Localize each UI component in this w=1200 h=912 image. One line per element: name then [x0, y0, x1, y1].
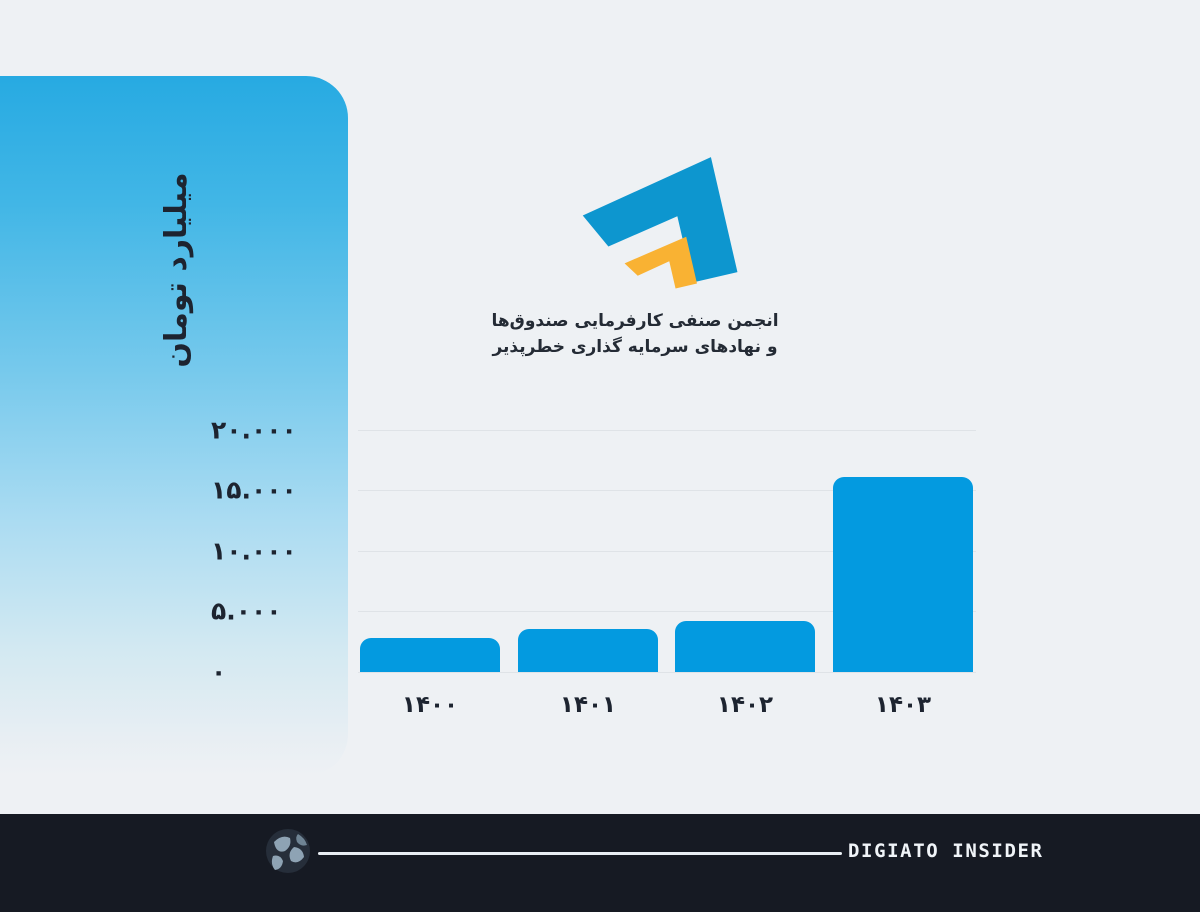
chart-canvas: میلیارد تومان انجمن صنفی کارفرمایی صندوق…	[0, 0, 1200, 912]
x-tick-label: ۱۴۰۲	[675, 692, 815, 718]
bar-1403[interactable]	[833, 477, 973, 672]
axis-baseline	[358, 672, 976, 673]
bar-1400[interactable]	[360, 638, 500, 672]
plot-area	[358, 420, 976, 673]
bar-1401[interactable]	[518, 629, 658, 672]
x-tick-label: ۱۴۰۰	[360, 692, 500, 718]
digiato-sphere-icon	[265, 828, 311, 874]
y-tick-label: ۰	[211, 658, 341, 687]
y-tick-label: ۲۰.۰۰۰	[211, 416, 341, 445]
bar-series	[358, 420, 976, 672]
y-tick-label: ۱۰.۰۰۰	[211, 537, 341, 566]
footer-brand-label: DIGIATO INSIDER	[848, 840, 1044, 862]
association-caption: انجمن صنفی کارفرمایی صندوق‌ها و نهادهای …	[470, 308, 800, 361]
footer-divider	[318, 852, 842, 855]
footer-bar	[0, 814, 1200, 912]
x-tick-label: ۱۴۰۳	[833, 692, 973, 718]
x-tick-label: ۱۴۰۱	[518, 692, 658, 718]
association-logo-icon	[556, 136, 784, 304]
y-tick-label: ۱۵.۰۰۰	[211, 476, 341, 505]
bar-1402[interactable]	[675, 621, 815, 672]
caption-line-1: انجمن صنفی کارفرمایی صندوق‌ها	[470, 308, 800, 334]
caption-line-2: و نهادهای سرمایه گذاری خطرپذیر	[470, 334, 800, 360]
x-axis-ticks: ۱۴۰۰ ۱۴۰۱ ۱۴۰۲ ۱۴۰۳	[358, 692, 976, 728]
y-axis-title: میلیارد تومان	[146, 150, 206, 390]
y-tick-label: ۵.۰۰۰	[211, 597, 341, 626]
y-axis-ticks: ۲۰.۰۰۰ ۱۵.۰۰۰ ۱۰.۰۰۰ ۵.۰۰۰ ۰	[186, 420, 341, 673]
